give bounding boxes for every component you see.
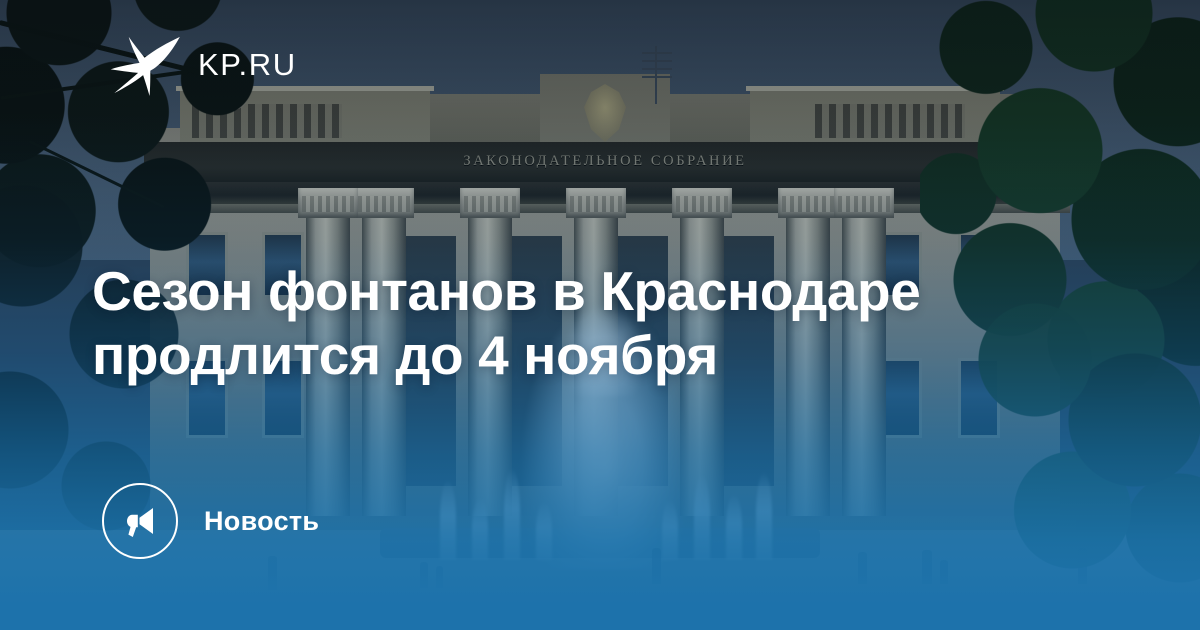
headline-line-2: продлится до 4 ноября [92, 323, 1042, 387]
social-share-card: ЗАКОНОДАТЕЛЬНОЕ СОБРАНИЕ [0, 0, 1200, 630]
brand-lockup[interactable]: KP.RU [110, 34, 297, 96]
brand-wordmark: KP.RU [198, 49, 297, 82]
overlay-content: KP.RU Сезон фонтанов в Краснодаре продли… [0, 0, 1200, 630]
swallow-bird-icon [110, 34, 182, 96]
megaphone-icon [120, 501, 160, 541]
badge-ring [102, 483, 178, 559]
page-title: Сезон фонтанов в Краснодаре продлится до… [92, 259, 1042, 388]
badge-label: Новость [204, 506, 319, 537]
headline-line-1: Сезон фонтанов в Краснодаре [92, 259, 1042, 323]
status-badge[interactable]: Новость [102, 483, 319, 559]
